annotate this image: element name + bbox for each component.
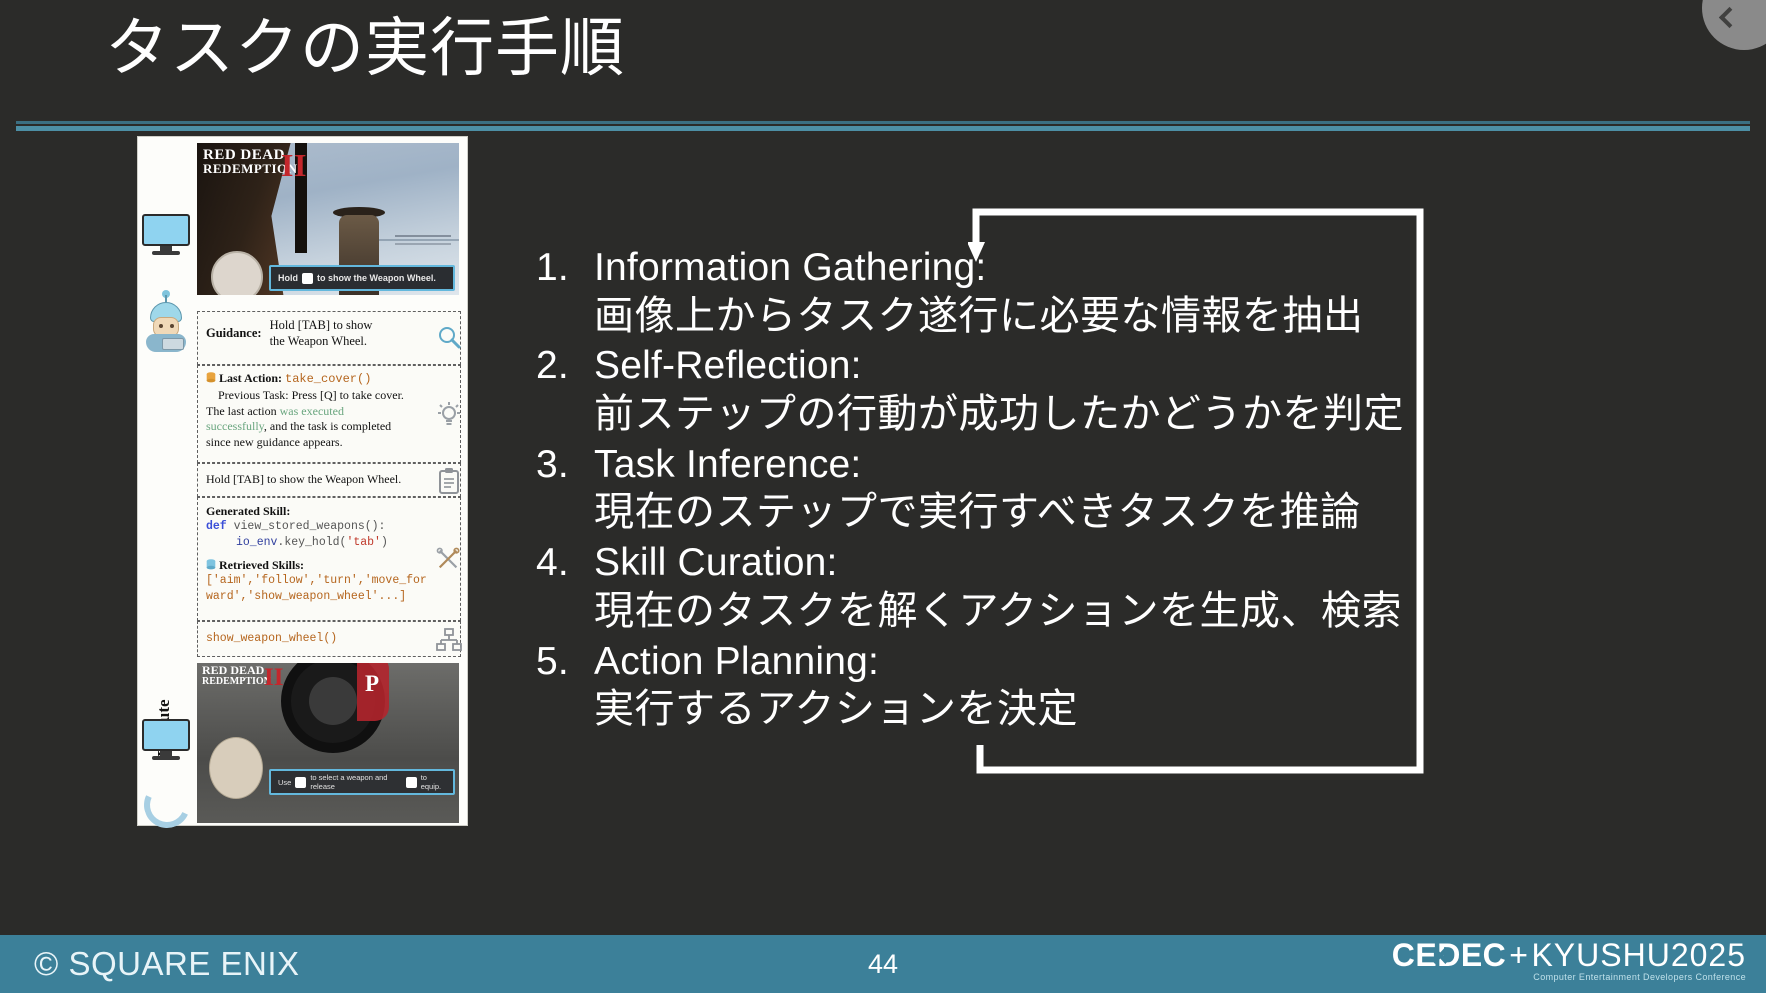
magnifier-icon <box>436 324 462 350</box>
step-item: 5. Action Planning: 実行するアクションを決定 <box>536 638 1566 734</box>
game-screenshot-bottom: P RED DEAD REDEMPTION II Use to select a… <box>197 663 459 823</box>
figure-main-column: RED DEAD REDEMPTION II Hold to show the … <box>195 137 465 825</box>
cedec-logo: CEDEC + KYUSHU2025 Computer Entertainmen… <box>1392 939 1746 982</box>
guidance-label: Guidance: <box>206 318 262 341</box>
copyright-text: © SQUARE ENIX <box>34 945 300 983</box>
step-item: 4. Skill Curation: 現在のタスクを解くアクションを生成、検索 <box>536 539 1566 635</box>
task-inference-box: Hold [TAB] to show the Weapon Wheel. <box>197 463 461 497</box>
rdr2-logo: RED DEAD REDEMPTION II <box>202 665 271 687</box>
game-hint-bar: Use to select a weapon and release to eq… <box>269 769 455 795</box>
key-icon <box>406 777 417 788</box>
robot-assistant-icon <box>140 302 192 354</box>
self-reflection-box: Last Action: take_cover() Previous Task:… <box>197 365 461 463</box>
step-item: 2. Self-Reflection: 前ステップの行動が成功したかどうかを判定 <box>536 342 1566 438</box>
tools-icon <box>436 546 462 572</box>
step-item: 3. Task Inference: 現在のステップで実行すべきタスクを推論 <box>536 441 1566 537</box>
logo-cedec-text: CEDEC <box>1392 939 1507 973</box>
generated-skill-title: Generated Skill: <box>206 504 452 519</box>
rdr2-logo: RED DEAD REDEMPTION II <box>203 148 298 175</box>
task-text: Hold [TAB] to show the Weapon Wheel. <box>206 472 452 487</box>
page-title: タスクの実行手順 <box>105 12 625 86</box>
step-number: 2. <box>536 342 594 390</box>
corner-circle-control[interactable] <box>1702 0 1766 50</box>
step-desc-ja: 画像上からタスク遂行に必要な情報を抽出 <box>536 292 1566 341</box>
generated-skill-code-line-2: io_env.key_hold('tab') <box>206 535 452 551</box>
steps-list: 1. Information Gathering: 画像上からタスク遂行に必要な… <box>536 244 1566 736</box>
title-divider <box>16 126 1750 131</box>
generated-skill-code-line-1: def view_stored_weapons(): <box>206 519 452 535</box>
step-item: 1. Information Gathering: 画像上からタスク遂行に必要な… <box>536 244 1566 340</box>
clipboard-icon <box>436 468 462 494</box>
retrieved-skills-title: Retrieved Skills: <box>206 558 452 573</box>
guidance-box: Guidance: Hold [TAB] to show the Weapon … <box>197 311 461 365</box>
skill-curation-box: Generated Skill: def view_stored_weapons… <box>197 497 461 621</box>
logo-kyushu-text: KYUSHU2025 <box>1531 939 1746 973</box>
hierarchy-icon <box>436 627 462 653</box>
retrieved-skills-line-1: ['aim','follow','turn','move_for <box>206 573 452 589</box>
title-divider-thin <box>16 121 1750 124</box>
monitor-icon <box>142 719 190 761</box>
step-title-en: Self-Reflection: <box>594 342 862 390</box>
step-title-en: Action Planning: <box>594 638 879 686</box>
page-number: 44 <box>868 949 898 980</box>
execute-arc-icon <box>138 776 197 835</box>
step-desc-ja: 現在のタスクを解くアクションを生成、検索 <box>536 587 1566 636</box>
key-icon <box>302 273 313 284</box>
figure-icon-column: Execute <box>138 137 195 825</box>
step-desc-ja: 現在のステップで実行すべきタスクを推論 <box>536 488 1566 537</box>
previous-task-line: Previous Task: Press [Q] to take cover. <box>206 388 452 404</box>
logo-subtitle: Computer Entertainment Developers Confer… <box>1392 972 1746 982</box>
reflection-sentence: The last action was executed <box>206 404 452 420</box>
last-action-line: Last Action: take_cover() <box>206 371 452 388</box>
step-number: 1. <box>536 244 594 292</box>
database-icon <box>206 559 216 570</box>
logo-plus: + <box>1506 939 1531 973</box>
pipeline-figure: Execute RED DEAD REDEMPTION II Hold t <box>137 136 468 826</box>
guidance-text: Hold [TAB] to show the Weapon Wheel. <box>270 318 373 349</box>
reflection-sentence-3: since new guidance appears. <box>206 435 452 451</box>
chevron-left-icon <box>1719 7 1740 28</box>
minimap <box>209 737 263 799</box>
game-hint-bar: Hold to show the Weapon Wheel. <box>269 265 455 291</box>
action-text: show_weapon_wheel() <box>206 631 452 647</box>
step-number: 5. <box>536 638 594 686</box>
monitor-icon <box>142 214 190 256</box>
step-number: 4. <box>536 539 594 587</box>
minimap <box>211 251 263 295</box>
step-title-en: Information Gathering: <box>594 244 986 292</box>
key-icon <box>295 777 306 788</box>
step-title-en: Task Inference: <box>594 441 861 489</box>
step-desc-ja: 実行するアクションを決定 <box>536 685 1566 734</box>
retrieved-skills-line-2: ward','show_weapon_wheel'...] <box>206 589 452 605</box>
database-icon <box>206 372 216 383</box>
footer-bar: © SQUARE ENIX 44 CEDEC + KYUSHU2025 Comp… <box>0 935 1766 993</box>
step-number: 3. <box>536 441 594 489</box>
lightbulb-icon <box>436 402 462 428</box>
action-planning-box: show_weapon_wheel() <box>197 621 461 657</box>
step-title-en: Skill Curation: <box>594 539 838 587</box>
step-desc-ja: 前ステップの行動が成功したかどうかを判定 <box>536 390 1566 439</box>
game-screenshot-top: RED DEAD REDEMPTION II Hold to show the … <box>197 143 459 295</box>
weapon-wheel-letter: P <box>365 671 379 697</box>
reflection-sentence-2: successfully, and the task is completed <box>206 419 452 435</box>
